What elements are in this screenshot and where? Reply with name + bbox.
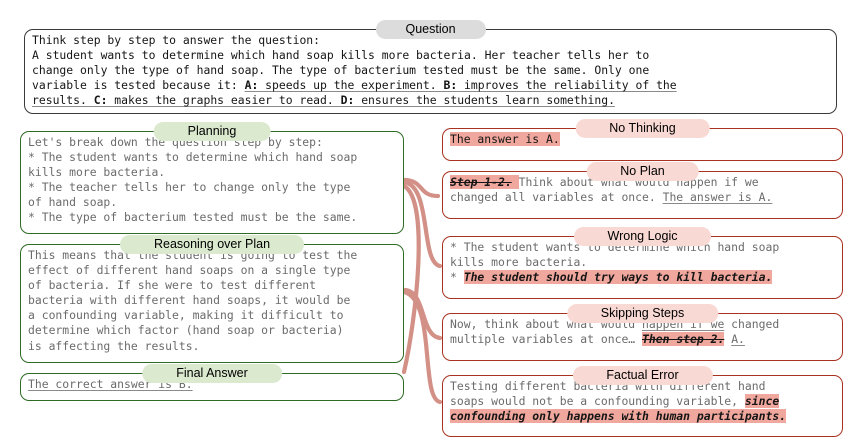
reasoning-over-plan-legend: Reasoning over Plan bbox=[120, 235, 304, 254]
final-answer-legend: Final Answer bbox=[142, 364, 282, 383]
factual-error-panel: Factual Error Testing different bacteria… bbox=[442, 375, 843, 437]
final-answer-panel: Final Answer The correct answer is B. bbox=[20, 373, 404, 401]
skipping-steps-legend: Skipping Steps bbox=[567, 304, 718, 323]
reasoning-over-plan-text: This means that the student is going to … bbox=[21, 245, 403, 358]
wrong-logic-panel: Wrong Logic * The student wants to deter… bbox=[442, 236, 843, 299]
option-a-text: speeds up the experiment. bbox=[258, 78, 443, 92]
planning-panel: Planning Let's break down the question s… bbox=[20, 131, 404, 234]
question-line-5-prefix: results. bbox=[32, 93, 94, 107]
no-thinking-highlight: The answer is A. bbox=[450, 132, 560, 146]
skipping-steps-panel: Skipping Steps Now, think about what wou… bbox=[442, 313, 843, 361]
option-d-text: ensures the students learn something. bbox=[354, 93, 615, 107]
question-panel: Question Think step by step to answer th… bbox=[24, 29, 837, 114]
figure-canvas: Question Think step by step to answer th… bbox=[0, 0, 861, 440]
reasoning-over-plan-panel: Reasoning over Plan This means that the … bbox=[20, 244, 404, 363]
wrong-logic-legend: Wrong Logic bbox=[574, 227, 712, 246]
option-c-label: C: bbox=[94, 93, 108, 107]
question-line-2: A student wants to determine which hand … bbox=[32, 48, 649, 62]
option-c-text: makes the graphs easier to read. bbox=[107, 93, 340, 107]
question-line-4-prefix: variable is tested because it: bbox=[32, 78, 245, 92]
skipping-steps-struck-wrapper: Then step 2. bbox=[642, 332, 724, 346]
no-thinking-legend: No Thinking bbox=[575, 119, 709, 138]
question-line-3: change only the type of hand soap. The t… bbox=[32, 63, 649, 77]
wrong-logic-highlight: The student should try ways to kill bact… bbox=[464, 270, 773, 284]
option-b-label: B: bbox=[443, 78, 457, 92]
factual-error-legend: Factual Error bbox=[572, 366, 712, 385]
option-d-label: D: bbox=[341, 93, 355, 107]
question-legend: Question bbox=[375, 20, 485, 39]
skipping-steps-struck-text: Then step 2. bbox=[642, 332, 724, 346]
no-plan-struck-text: Step 1-2. bbox=[450, 175, 512, 189]
no-plan-struck-wrapper: Step 1-2. bbox=[450, 175, 519, 189]
no-thinking-panel: No Thinking The answer is A. bbox=[442, 128, 843, 161]
skipping-steps-underlined-answer: A. bbox=[731, 332, 745, 346]
no-plan-underlined-answer: The answer is A. bbox=[663, 190, 773, 204]
option-b-text: improves the reliability of the bbox=[457, 78, 676, 92]
planning-legend: Planning bbox=[154, 122, 271, 141]
no-plan-panel: No Plan Step 1-2. Think about what would… bbox=[442, 171, 843, 219]
option-a-label: A: bbox=[245, 78, 259, 92]
planning-text: Let's break down the question step by st… bbox=[21, 132, 403, 230]
question-line-1: Think step by step to answer the questio… bbox=[32, 33, 320, 47]
question-text: Think step by step to answer the questio… bbox=[25, 30, 836, 112]
no-plan-legend: No Plan bbox=[586, 162, 698, 181]
